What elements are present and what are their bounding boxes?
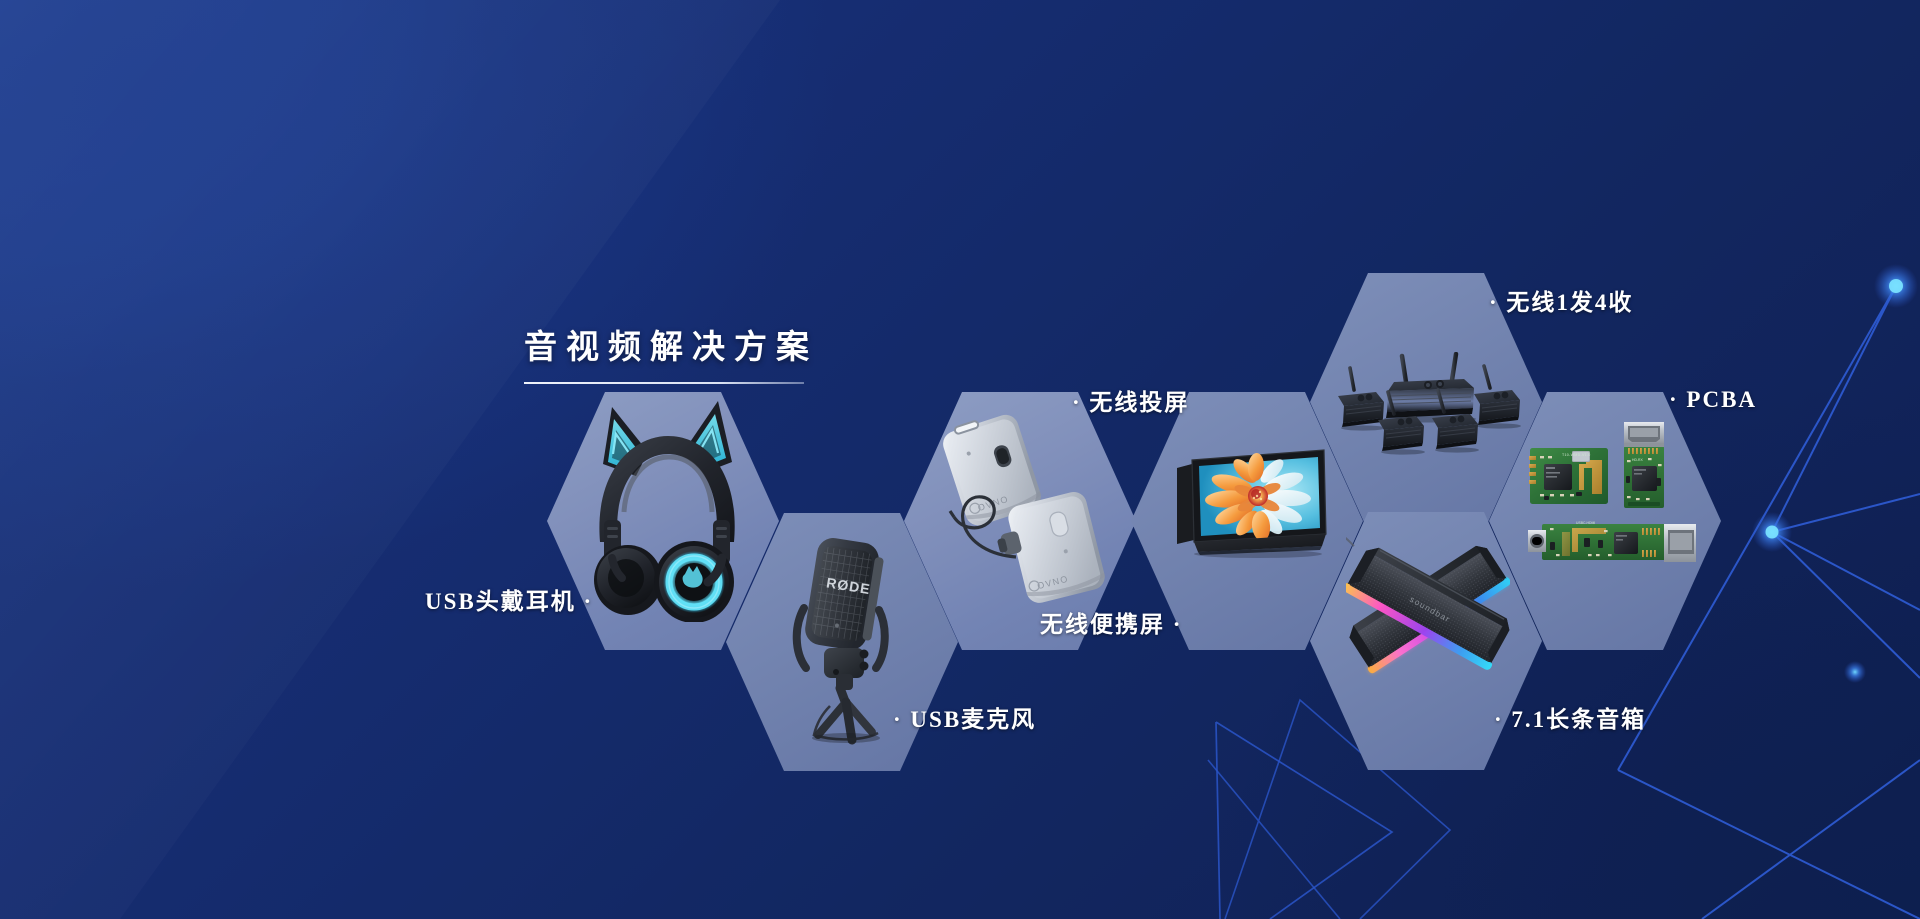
label-pcba: · PCBA	[1669, 387, 1757, 413]
product-portable-monitor	[1172, 442, 1332, 558]
svg-text:HD-RX: HD-RX	[1632, 458, 1643, 462]
monitor-screen	[1199, 452, 1320, 541]
product-pcba-boards: T10-WMD-V1.0	[1528, 420, 1696, 575]
product-rgb-soundbar-pair: soundbar soundbar	[1346, 528, 1510, 688]
label-usb-microphone: · USB麦克风	[893, 700, 1036, 734]
label-wireless-portable-screen: 无线便携屏 ·	[1040, 605, 1182, 639]
wireless-transmitter	[1384, 354, 1476, 423]
label-wireless-cast: · 无线投屏	[1072, 383, 1189, 417]
product-wireless-1t4r-kit	[1332, 352, 1522, 460]
svg-text:USBC-HDMI: USBC-HDMI	[1576, 521, 1595, 525]
svg-text:T10-WMD-V1.0: T10-WMD-V1.0	[1562, 453, 1591, 457]
banner-title-block: 音视频解决方案	[524, 320, 818, 384]
wireless-receiver	[1474, 366, 1521, 429]
product-wireless-cast-dongles: OVNO OVNO	[930, 405, 1120, 605]
banner-canvas: RØDE	[0, 0, 1920, 919]
product-usb-condenser-microphone: RØDE	[780, 530, 910, 745]
ear-cup-left	[594, 545, 662, 615]
wireless-receiver	[1338, 368, 1385, 431]
label-usb-headset: USB头戴耳机 ·	[425, 582, 593, 616]
page-title: 音视频解决方案	[524, 320, 818, 368]
title-underline	[524, 382, 804, 384]
ear-cup-right-led	[654, 541, 734, 622]
pcba-board-wifi-module: T10-WMD-V1.0	[1529, 448, 1608, 504]
pcba-board-usbc-hdmi-stick: USBC-HDMI	[1528, 521, 1696, 562]
label-soundbar-71: · 7.1长条音箱	[1494, 700, 1646, 734]
pcba-board-hdmi-dongle: HD-RX	[1624, 422, 1664, 508]
label-wireless-1t4r: · 无线1发4收	[1489, 283, 1633, 317]
